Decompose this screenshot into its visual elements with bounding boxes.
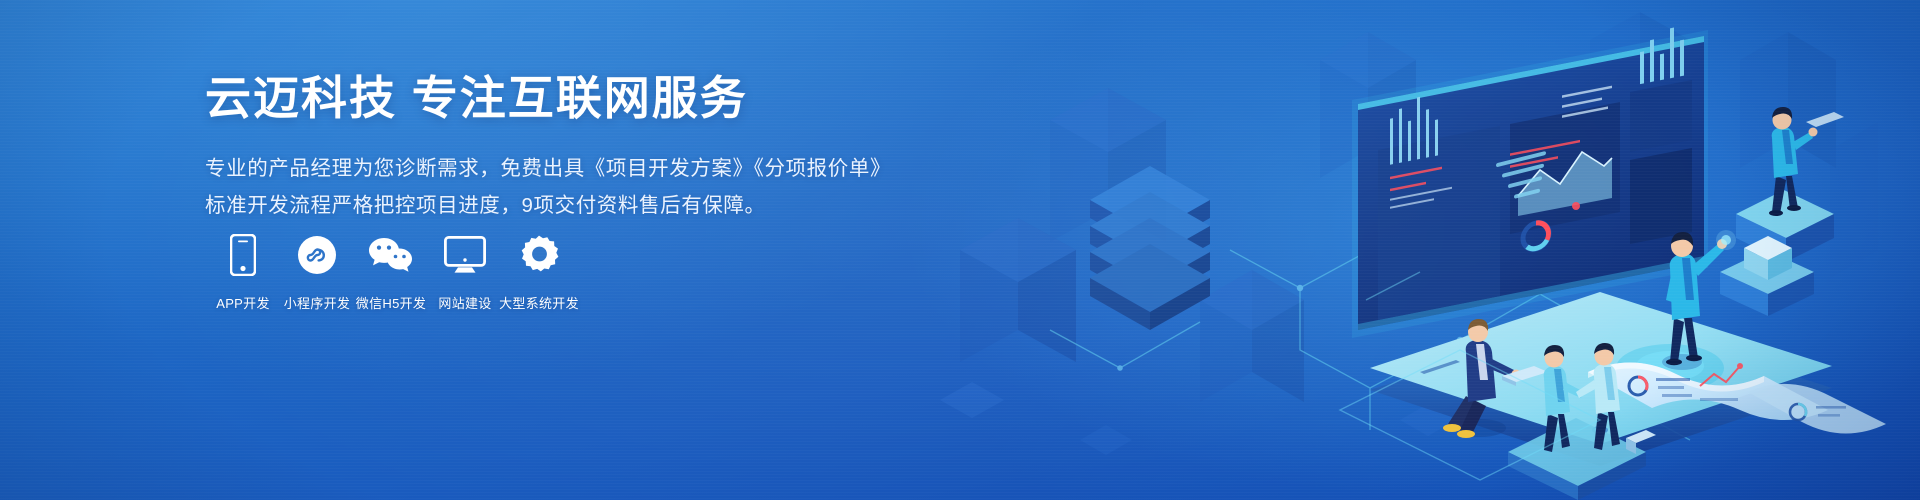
- service-label: 小程序开发: [284, 293, 351, 312]
- service-label: APP开发: [216, 293, 270, 312]
- monitor-icon: [444, 232, 486, 278]
- hero-copy: 云迈科技 专注互联网服务 专业的产品经理为您诊断需求，免费出具《项目开发方案》《…: [205, 70, 985, 224]
- service-item-large-system-development[interactable]: 大型系统开发: [502, 232, 576, 312]
- hero-subtitle-line-1: 专业的产品经理为您诊断需求，免费出具《项目开发方案》《分项报价单》: [205, 150, 985, 187]
- service-item-website-construction[interactable]: 网站建设: [428, 232, 502, 312]
- server-stack: [1090, 166, 1210, 330]
- mobile-phone-icon: [230, 232, 256, 278]
- hero-subtitle-line-2: 标准开发流程严格把控项目进度，9项交付资料售后有保障。: [205, 187, 985, 224]
- service-list: APP开发 小程序开发: [206, 232, 576, 312]
- illustration-isometric-tech-dashboard-scene: [900, 0, 1920, 500]
- service-item-app-development[interactable]: APP开发: [206, 232, 280, 312]
- hero-subtitle: 专业的产品经理为您诊断需求，免费出具《项目开发方案》《分项报价单》 标准开发流程…: [205, 150, 985, 225]
- service-label: 大型系统开发: [499, 293, 579, 312]
- page-title: 云迈科技 专注互联网服务: [205, 70, 985, 128]
- gear-icon: [519, 232, 559, 278]
- service-label: 网站建设: [438, 293, 491, 312]
- service-item-wechat-h5-development[interactable]: 微信H5开发: [354, 232, 428, 312]
- service-label: 微信H5开发: [356, 293, 426, 312]
- service-item-mini-program-development[interactable]: 小程序开发: [280, 232, 354, 312]
- hero-banner: 云迈科技 专注互联网服务 专业的产品经理为您诊断需求，免费出具《项目开发方案》《…: [0, 0, 1920, 500]
- wechat-icon: [368, 232, 414, 278]
- mini-program-icon: [297, 232, 337, 278]
